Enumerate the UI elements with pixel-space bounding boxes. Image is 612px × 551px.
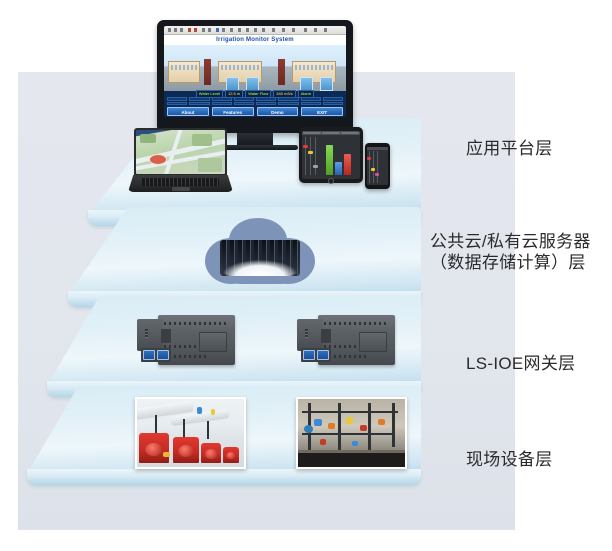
tablet[interactable] [299, 127, 363, 183]
server-racks [220, 240, 300, 276]
laptop-touchpad[interactable] [172, 187, 190, 191]
plc-ports[interactable] [141, 348, 171, 362]
phone-chart [368, 151, 387, 183]
phone-slider-1[interactable] [372, 151, 375, 183]
plc-gateway-1[interactable] [137, 315, 235, 365]
plc-port[interactable] [303, 350, 315, 360]
plc-display-window [199, 332, 227, 352]
tablet-bar-red [344, 154, 351, 175]
desktop-monitor[interactable]: Irrigation Monitor System Water Level 12… [157, 20, 353, 133]
laptop-keyboard[interactable] [142, 178, 219, 186]
tablet-toolbar [302, 131, 360, 135]
plc-status-leds [145, 329, 148, 338]
exit-button[interactable]: EXIT [301, 107, 343, 116]
map-marker [149, 154, 167, 165]
plc-port[interactable] [317, 350, 329, 360]
demo-button[interactable]: Demo [257, 107, 299, 116]
app-toolbar [164, 26, 346, 35]
readout-row: Water Level 12.5 m Water Flow 340 m3/s A… [167, 90, 343, 97]
dam-schematic [164, 45, 346, 91]
plc-port[interactable] [157, 350, 169, 360]
app-button-bar[interactable]: About Features Demo EXIT [167, 107, 343, 116]
plc-side-module [297, 319, 323, 351]
phone-slider-0[interactable] [368, 151, 371, 183]
about-button[interactable]: About [167, 107, 209, 116]
tablet-slider-0[interactable] [304, 137, 307, 175]
app-title: Irrigation Monitor System [164, 35, 346, 45]
tier-label-cloud-server: 公共云/私有云服务器 （数据存储计算）层 [430, 231, 591, 273]
valve-manifold-photo[interactable] [296, 397, 407, 469]
pump-station-photo[interactable] [135, 397, 246, 469]
tablet-slider-2[interactable] [314, 137, 317, 175]
tablet-bar-green [326, 145, 333, 175]
cloud-datacenter-icon[interactable] [205, 218, 315, 290]
tier-label-application-platform: 应用平台层 [466, 138, 553, 159]
features-button[interactable]: Features [212, 107, 254, 116]
tablet-home-button[interactable] [328, 178, 334, 184]
plc-status-leds [305, 329, 308, 338]
monitor-screen: Irrigation Monitor System Water Level 12… [164, 26, 346, 117]
tablet-bar-blue [335, 162, 342, 175]
tier-front-edge [27, 469, 421, 485]
architecture-diagram: Irrigation Monitor System Water Level 12… [0, 0, 612, 551]
smartphone[interactable] [365, 143, 390, 189]
plc-port[interactable] [143, 350, 155, 360]
tablet-screen-dashboard [302, 131, 360, 179]
plc-ports[interactable] [301, 348, 331, 362]
cloud-mist [222, 260, 298, 276]
tablet-slider-1[interactable] [309, 137, 312, 175]
laptop-lid [134, 128, 227, 176]
laptop-screen-map [136, 130, 225, 174]
tier-label-gateway: LS-IOE网关层 [466, 353, 575, 374]
laptop[interactable] [128, 128, 233, 198]
phone-slider-2[interactable] [376, 151, 379, 183]
gate-control-grid[interactable] [167, 97, 343, 105]
plc-gateway-2[interactable] [297, 315, 395, 365]
phone-screen-dashboard [367, 147, 388, 185]
plc-latch [161, 329, 171, 343]
plc-side-module [137, 319, 163, 351]
tier-label-field-device: 现场设备层 [466, 449, 553, 470]
plc-display-window [359, 332, 387, 352]
tablet-chart [304, 137, 358, 175]
plc-latch [321, 329, 331, 343]
phone-status-bar [367, 147, 388, 150]
